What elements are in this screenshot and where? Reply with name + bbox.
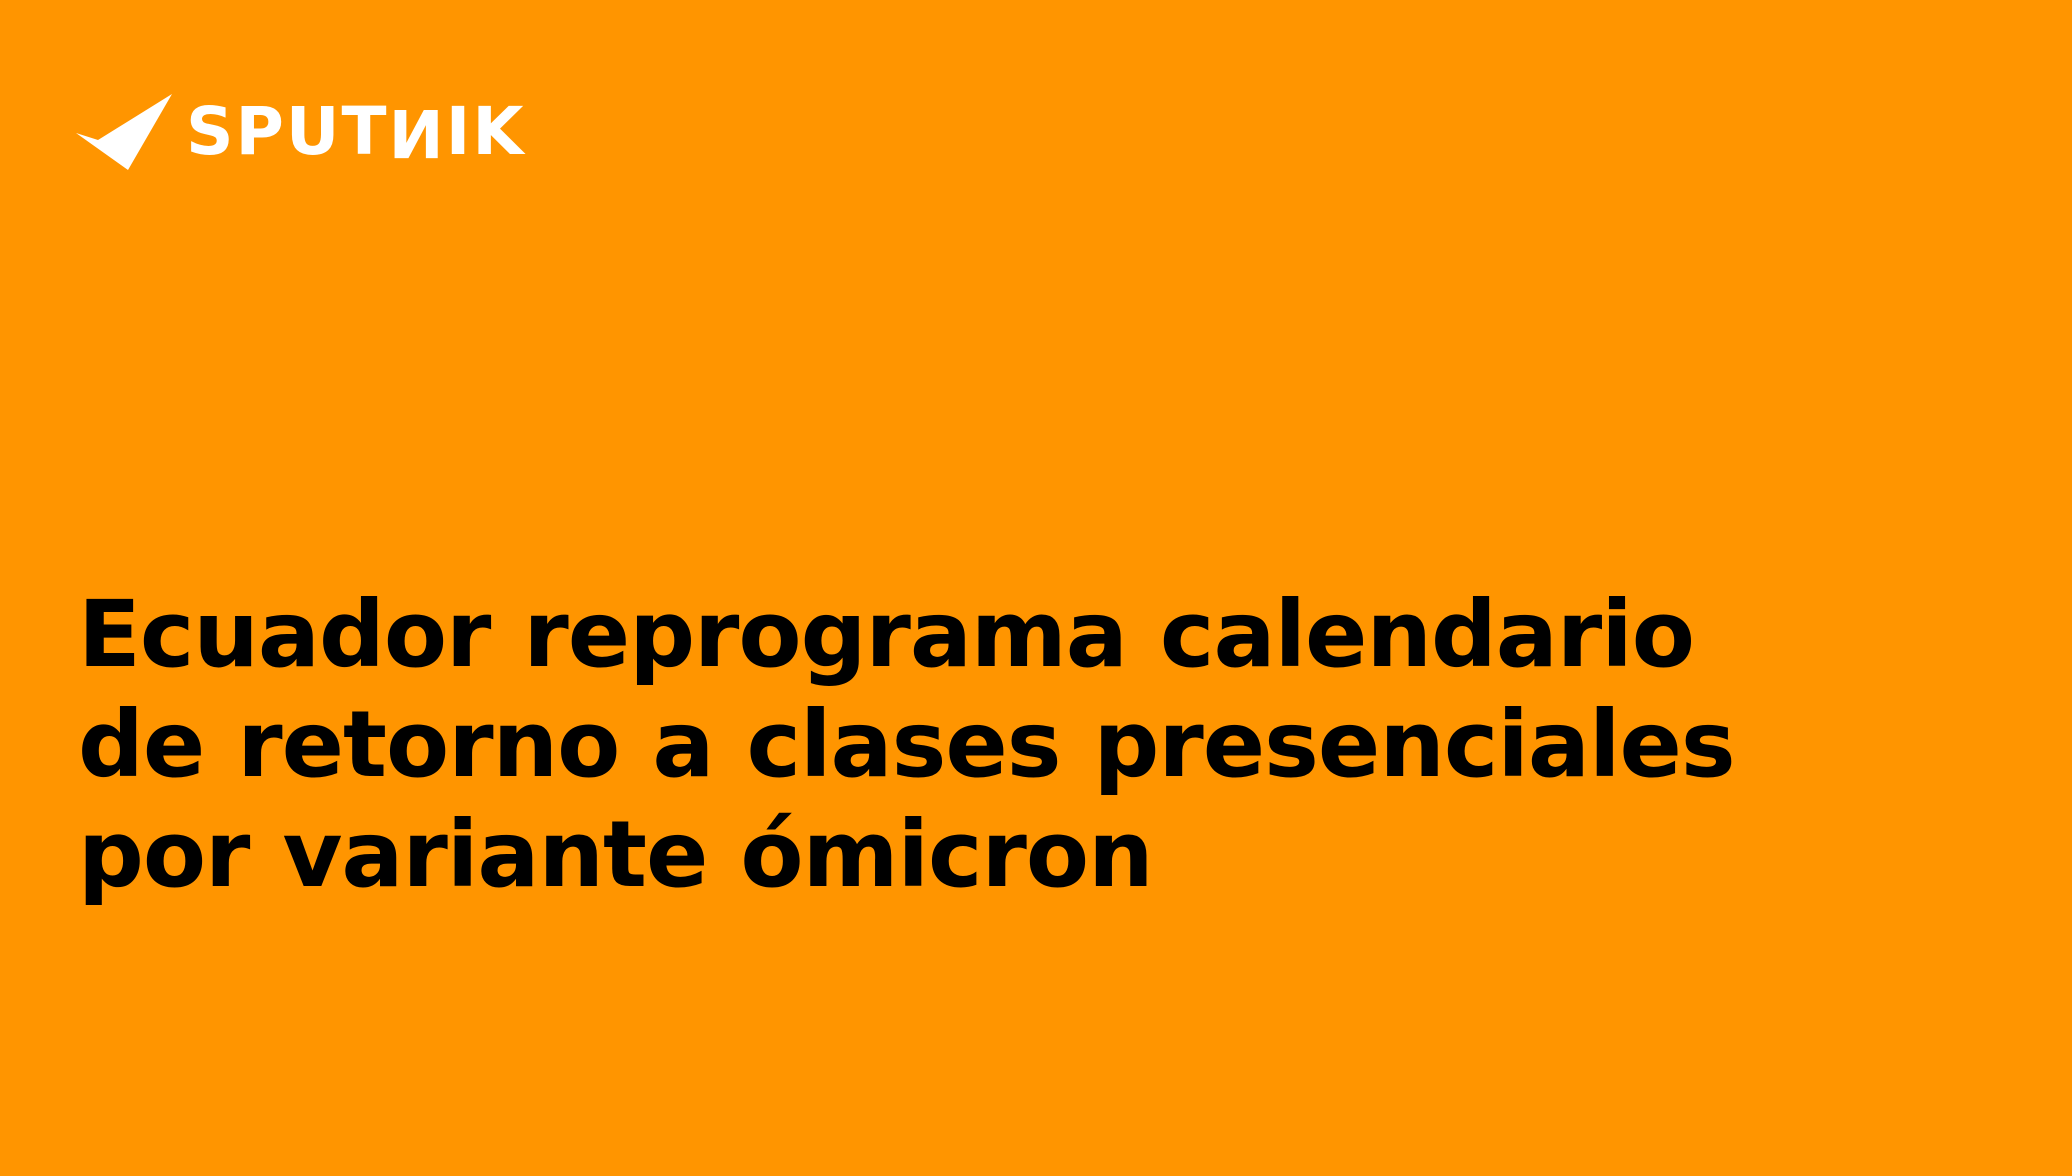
wordmark-part-1: SPUT bbox=[186, 99, 389, 165]
headline-line-2: de retorno a clases presenciales bbox=[78, 690, 1978, 800]
headline-line-1: Ecuador reprograma calendario bbox=[78, 580, 1978, 690]
share-card: SPUTNIK Ecuador reprograma calendario de… bbox=[0, 0, 2072, 1176]
headline-line-3: por variante ómicron bbox=[78, 800, 1978, 910]
headline: Ecuador reprograma calendario de retorno… bbox=[78, 580, 1978, 910]
wordmark-part-2: IK bbox=[446, 99, 526, 165]
wordmark-flipped-n: N bbox=[389, 99, 446, 165]
sputnik-arrow-icon bbox=[76, 94, 172, 170]
sputnik-logo[interactable]: SPUTNIK bbox=[76, 92, 525, 172]
sputnik-wordmark: SPUTNIK bbox=[186, 99, 525, 165]
